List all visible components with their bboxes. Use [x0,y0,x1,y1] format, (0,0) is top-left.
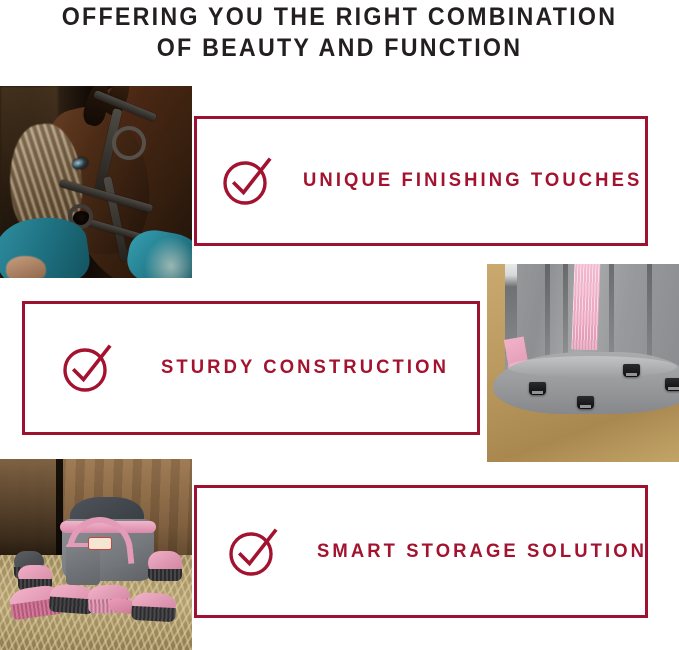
check-circle-icon [227,526,279,578]
promo-graphic: OFFERING YOU THE RIGHT COMBINATION OF BE… [0,0,679,650]
feature-box-unique-finishing-touches[interactable]: UNIQUE FINISHING TOUCHES [194,116,648,246]
feature-label-smart-storage-solution: SMART STORAGE SOLUTION [317,541,647,563]
check-circle-icon [221,155,273,207]
feature-label-unique-finishing-touches: UNIQUE FINISHING TOUCHES [303,170,642,192]
feature-box-sturdy-construction[interactable]: STURDY CONSTRUCTION [22,301,480,435]
page-title: OFFERING YOU THE RIGHT COMBINATION OF BE… [24,2,655,64]
horse-in-stable-photo [0,86,192,278]
grey-pink-bag-detail-photo [487,264,679,462]
grooming-kit-photo [0,459,192,650]
feature-box-smart-storage-solution[interactable]: SMART STORAGE SOLUTION [194,485,648,618]
check-circle-icon [61,342,113,394]
feature-label-sturdy-construction: STURDY CONSTRUCTION [161,357,449,379]
